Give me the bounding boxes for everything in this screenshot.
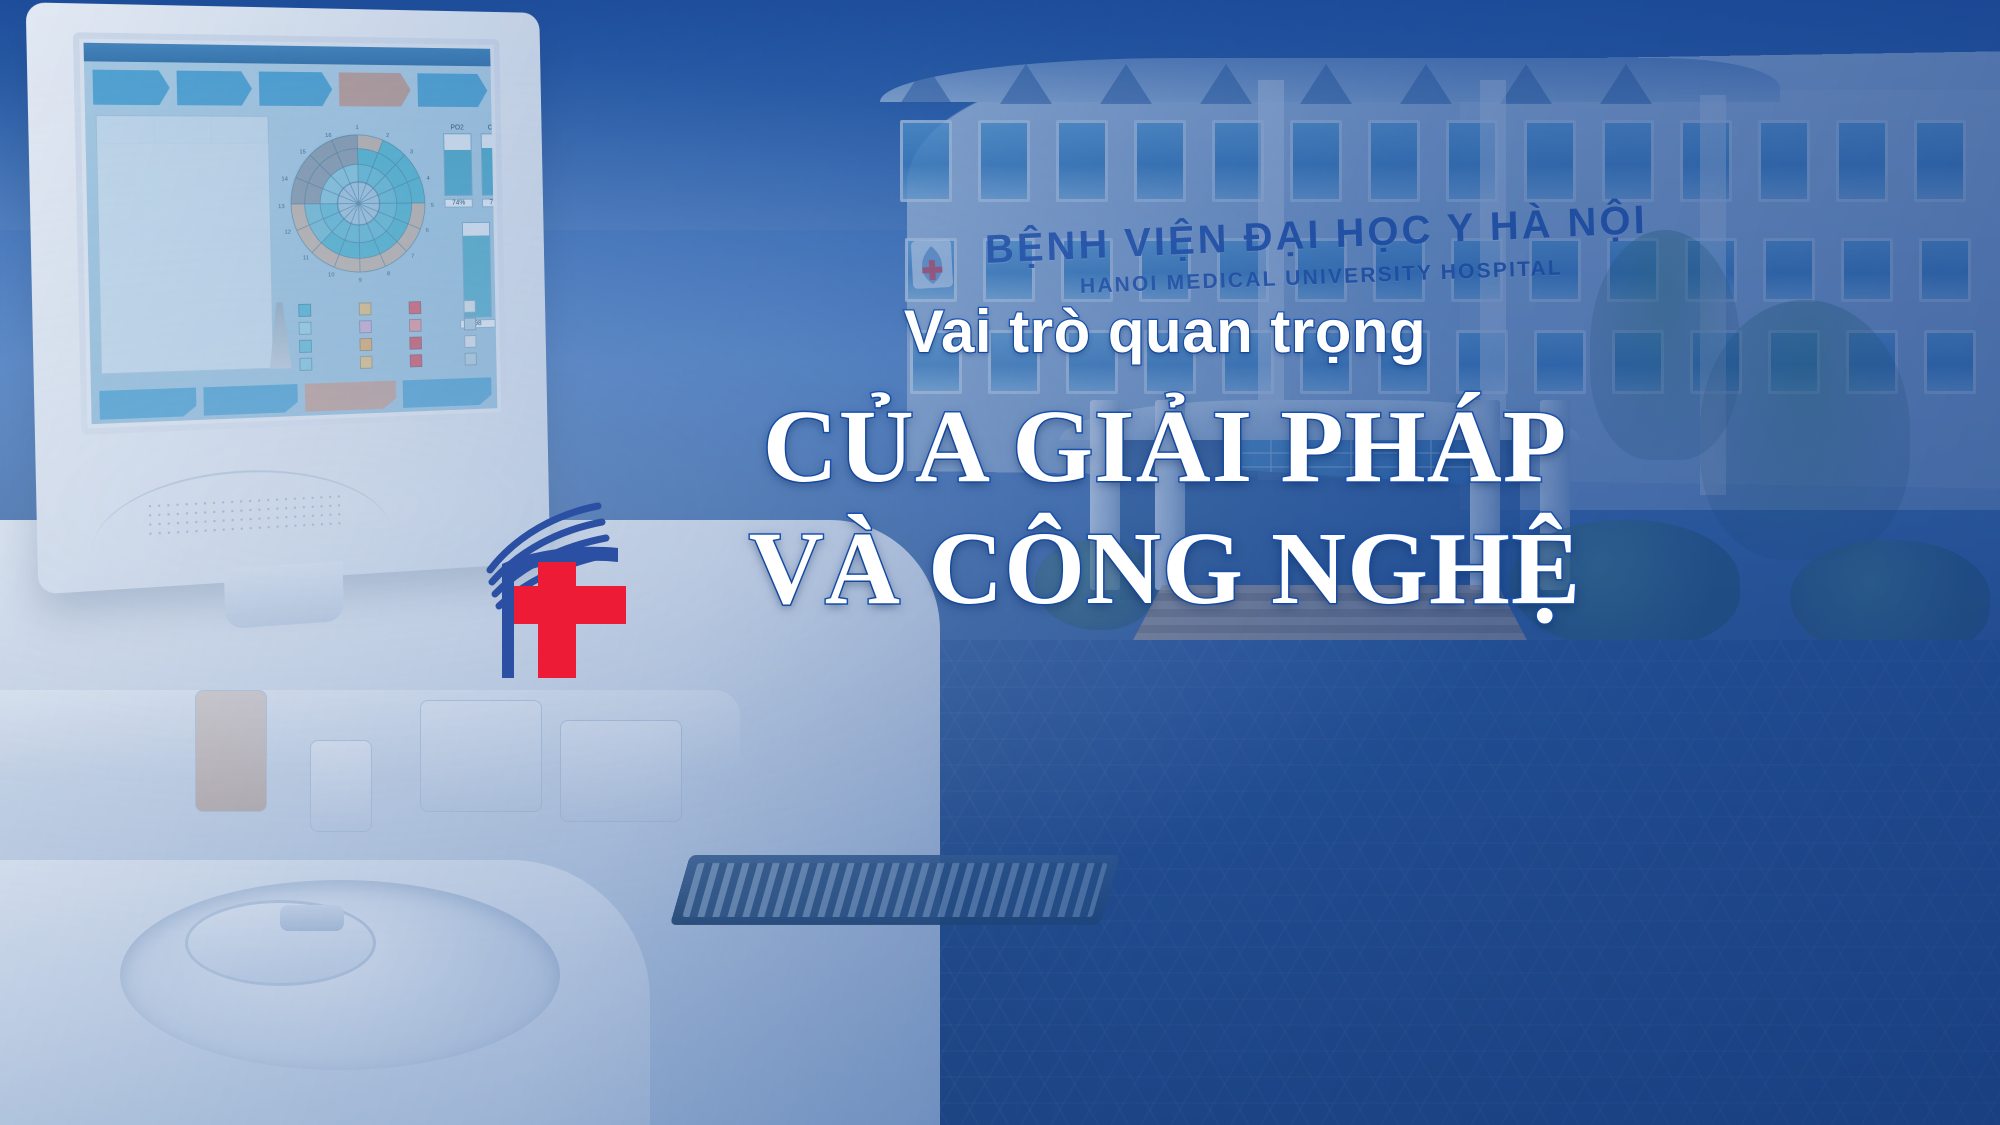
window [1919, 238, 1971, 302]
window [1914, 120, 1966, 202]
window [1290, 120, 1342, 202]
roof-peak [1000, 64, 1052, 104]
gauge-value: 74% [444, 199, 472, 208]
svg-text:2: 2 [386, 133, 390, 139]
window [1524, 120, 1576, 202]
palm-tree [1700, 300, 1910, 560]
sample-tubes [682, 863, 1107, 917]
window [1924, 330, 1976, 394]
swatch [299, 322, 312, 335]
screen-tab[interactable] [259, 72, 333, 107]
swatch [464, 317, 476, 330]
analyzer-gripper [560, 720, 682, 822]
swatch-column-cyan [298, 304, 312, 371]
medical-cross-logo [478, 478, 653, 678]
gauge-fill [444, 150, 471, 195]
window [1368, 120, 1420, 202]
rotor-diagram: 1 2 3 4 5 6 7 8 9 10 [275, 120, 441, 289]
screen-tab[interactable] [92, 70, 170, 106]
svg-text:10: 10 [328, 272, 335, 278]
roof-peak [1100, 64, 1152, 104]
svg-text:4: 4 [427, 176, 431, 182]
swatch [299, 340, 312, 353]
swatch [359, 302, 372, 315]
swatch-column-red [409, 301, 423, 367]
window [1841, 238, 1893, 302]
svg-text:14: 14 [281, 176, 288, 182]
gauge-label: PO2 [443, 124, 471, 131]
gauge-fill [482, 148, 497, 195]
svg-text:3: 3 [410, 150, 414, 156]
roof-peaks [900, 62, 1780, 104]
roof-peak [1200, 64, 1252, 104]
swatch [463, 300, 475, 313]
roof-peak [1600, 64, 1652, 104]
gauge-po2: PO2 74% [443, 124, 473, 207]
screen-tab[interactable] [417, 73, 488, 107]
analyzer-monitor: 1 2 3 4 5 6 7 8 9 10 [26, 2, 551, 594]
headline-kicker: Vai trò quan trọng [690, 300, 1640, 363]
screen-action-button[interactable] [402, 377, 491, 408]
monitor-bezel: 1 2 3 4 5 6 7 8 9 10 [73, 32, 507, 435]
swatch [360, 356, 373, 369]
slide-canvas: BỆNH VIỆN ĐẠI HỌC Y HÀ NỘI HANOI MEDICAL… [0, 0, 2000, 1125]
window [1056, 120, 1108, 202]
svg-text:7: 7 [411, 254, 415, 260]
svg-text:6: 6 [426, 228, 430, 234]
swatch [359, 338, 372, 351]
roof-peak [1400, 64, 1452, 104]
analyzer-screen[interactable]: 1 2 3 4 5 6 7 8 9 10 [84, 43, 498, 424]
screen-tab[interactable] [177, 71, 253, 106]
screen-action-button[interactable] [99, 388, 197, 420]
gauge-bar [443, 133, 472, 196]
svg-text:12: 12 [284, 230, 291, 236]
swatch [465, 353, 477, 366]
swatch-column-amber [359, 302, 373, 369]
swatch [409, 301, 422, 314]
window [1134, 120, 1186, 202]
sample-tube-tray [670, 855, 1120, 925]
swatch [299, 358, 312, 371]
screen-titlebar [84, 43, 491, 67]
gauge-group: PO2 74% CO2 78% [443, 124, 497, 207]
screen-tab-bar[interactable] [92, 70, 487, 107]
svg-text:5: 5 [431, 203, 435, 209]
svg-text:16: 16 [325, 133, 332, 139]
swatch-column-grey [463, 300, 476, 366]
screen-action-button-alert[interactable] [304, 381, 396, 412]
analyzer-probe-arm [195, 690, 267, 812]
screen-result-list[interactable] [96, 115, 274, 374]
window [1212, 120, 1264, 202]
swatch [409, 319, 422, 332]
gauge-value: 78% [482, 198, 497, 207]
window [1763, 238, 1815, 302]
headline-block: Vai trò quan trọng CỦA GIẢI PHÁP VÀ CÔNG… [690, 300, 1640, 628]
swatch [298, 304, 311, 317]
monitor-stand [224, 561, 344, 629]
gauge-label: CO2 [480, 125, 497, 132]
gauge-bar [481, 133, 498, 195]
analyzer-gripper [420, 700, 542, 812]
screen-bottom-bar[interactable] [99, 377, 491, 419]
svg-text:13: 13 [278, 204, 285, 210]
svg-text:11: 11 [303, 255, 310, 261]
window-row [900, 120, 1966, 202]
gauge-co2: CO2 78% [480, 125, 497, 208]
svg-text:8: 8 [387, 271, 391, 277]
window [1758, 120, 1810, 202]
window [1602, 120, 1654, 202]
swatch [410, 354, 423, 367]
roof-peak [1500, 64, 1552, 104]
headline-line-1: CỦA GIẢI PHÁP [690, 389, 1640, 505]
roof-peak [1300, 64, 1352, 104]
screen-action-button[interactable] [203, 384, 298, 416]
carousel-latch [280, 905, 344, 931]
window [978, 120, 1030, 202]
window [1836, 120, 1888, 202]
swatch [359, 320, 372, 333]
svg-text:9: 9 [359, 278, 363, 284]
swatch [464, 335, 476, 348]
screen-tab-alert[interactable] [339, 72, 411, 106]
headline-line-2: VÀ CÔNG NGHỆ [690, 511, 1640, 627]
svg-text:15: 15 [299, 150, 306, 156]
svg-text:1: 1 [355, 125, 359, 131]
swatch [409, 337, 422, 350]
analyzer-module [310, 740, 372, 832]
